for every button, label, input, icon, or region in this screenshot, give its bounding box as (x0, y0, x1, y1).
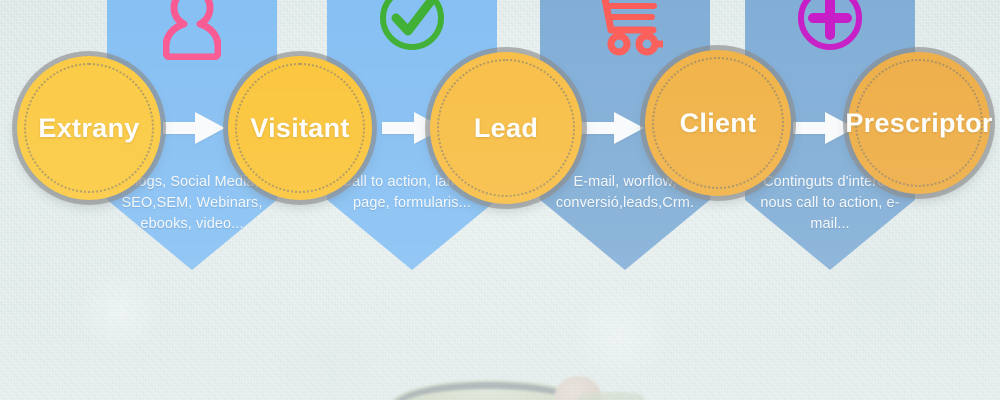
check-circle-icon (379, 0, 445, 60)
icon-slot (335, 0, 489, 60)
shopping-cart-icon (587, 0, 663, 60)
funnel-node-lead[interactable]: Lead (430, 52, 582, 204)
icon-slot (115, 0, 269, 60)
icon-slot (753, 0, 907, 60)
icon-slot (548, 0, 702, 60)
arrow-head (195, 112, 225, 144)
arrow-right-icon-1 (163, 112, 227, 144)
plus-circle-icon (797, 0, 863, 60)
funnel-node-prescriptor[interactable]: Prescriptor (848, 52, 990, 194)
node-label: Prescriptor (845, 108, 992, 139)
node-label: Extrany (38, 113, 139, 144)
node-label: Lead (474, 113, 538, 144)
node-label: Visitant (250, 113, 349, 144)
arrow-right-icon-3 (582, 112, 646, 144)
photo-shoulder (578, 392, 644, 400)
funnel-node-visitant[interactable]: Visitant (228, 56, 372, 200)
infographic-canvas: Blogs, Social Media, SEO,SEM, Webinars, … (0, 0, 1000, 400)
person-outline-icon (163, 0, 221, 60)
arrow-head (614, 112, 644, 144)
background-photo-remnant (372, 352, 642, 400)
funnel-node-extrany[interactable]: Extrany (17, 56, 161, 200)
node-label: Client (680, 108, 757, 139)
funnel-node-client[interactable]: Client (645, 50, 791, 196)
